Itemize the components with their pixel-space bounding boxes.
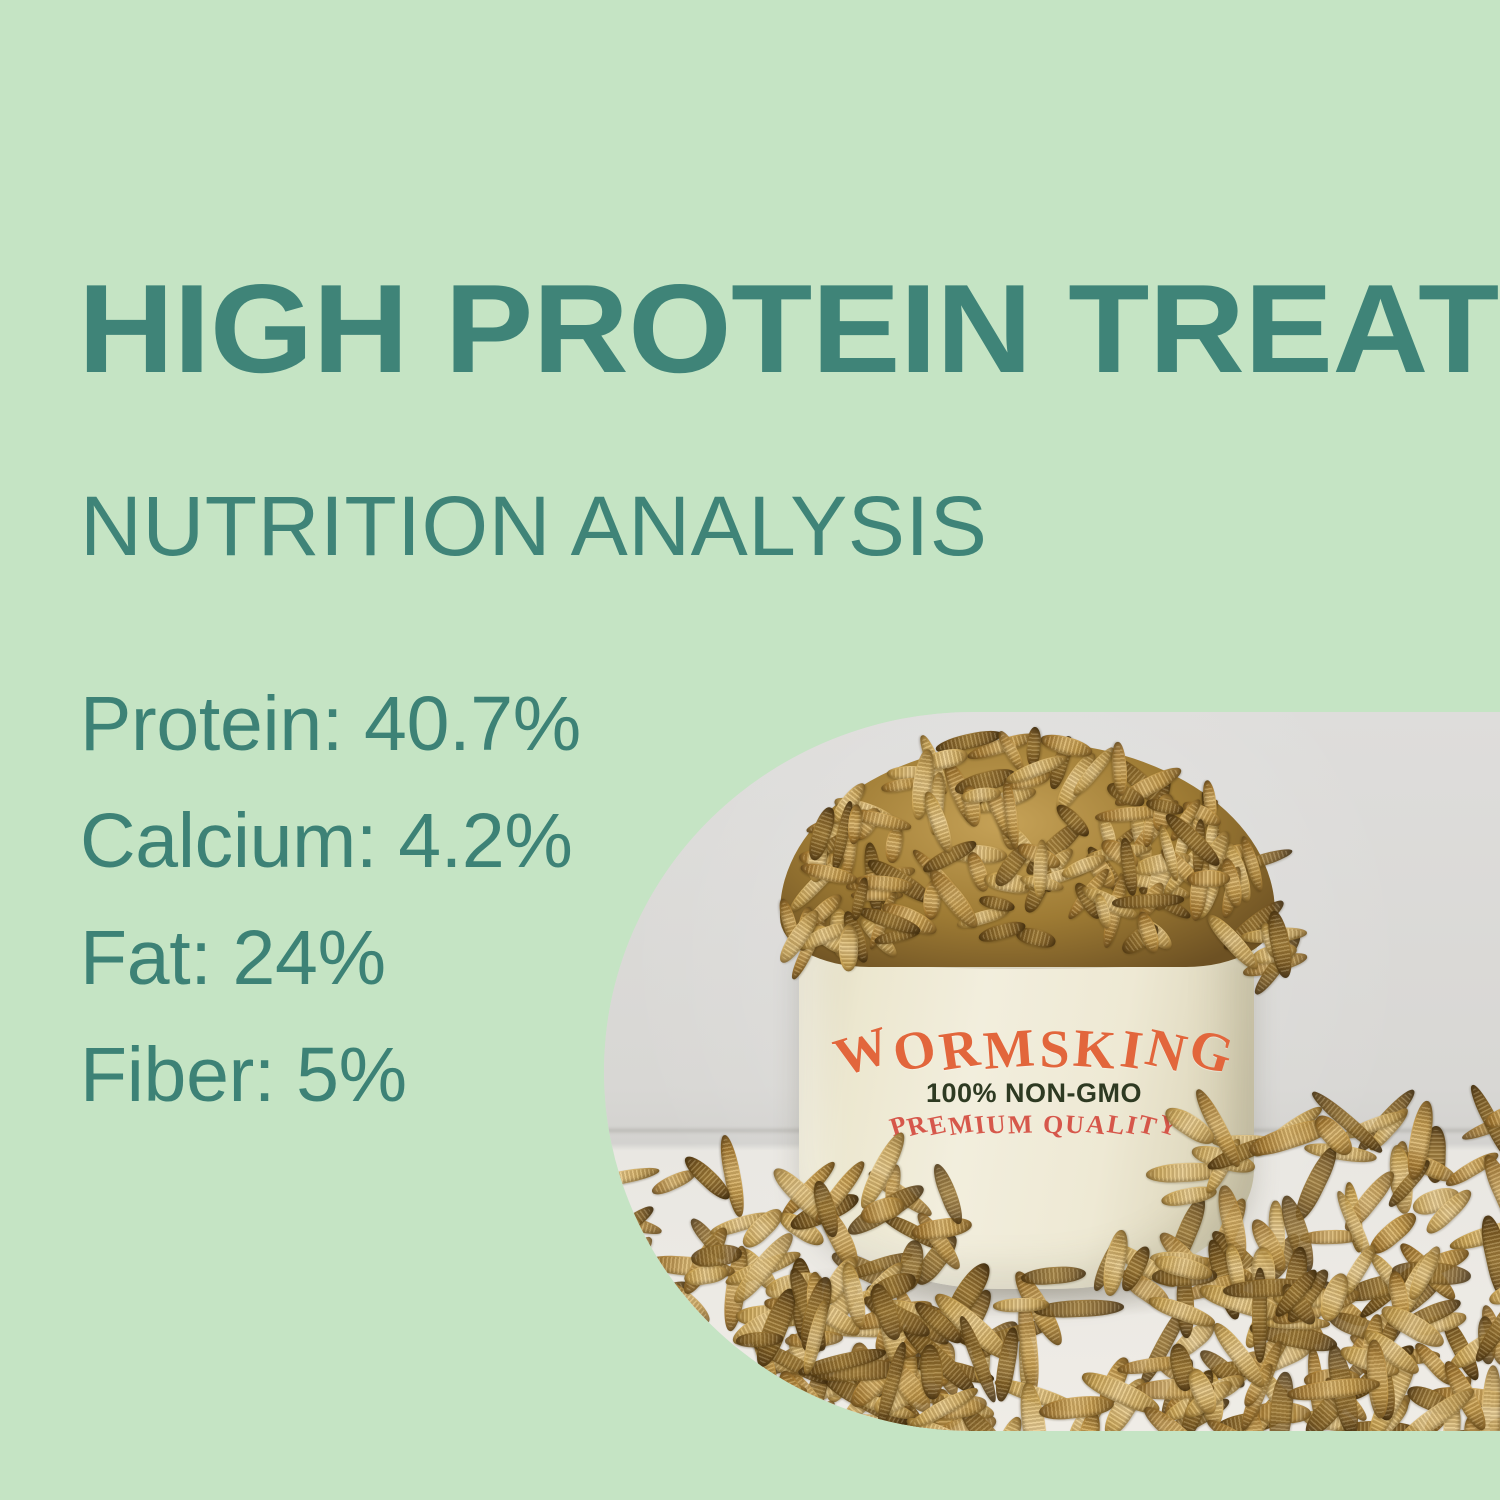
- nutrition-row-fat: Fat: 24%: [80, 900, 581, 1017]
- nutrition-fat-text: Fat: 24%: [80, 915, 386, 1001]
- page-title: HIGH PROTEIN TREATS: [78, 265, 1500, 394]
- nutrition-analysis-list: Protein: 40.7% Calcium: 4.2% Fat: 24% Fi…: [80, 666, 581, 1134]
- nutrition-fiber-text: Fiber: 5%: [80, 1032, 407, 1118]
- poster-canvas: HIGH PROTEIN TREATS NUTRITION ANALYSIS P…: [0, 0, 1500, 1500]
- page-subtitle: NUTRITION ANALYSIS: [80, 484, 987, 568]
- nutrition-row-calcium: Calcium: 4.2%: [80, 783, 581, 900]
- larvae-pile-in-bowl: [780, 748, 1275, 963]
- nutrition-calcium-text: Calcium: 4.2%: [80, 798, 573, 884]
- larvae-pile-front: [724, 1260, 1424, 1431]
- nutrition-protein-text: Protein: 40.7%: [80, 681, 581, 767]
- nutrition-row-fiber: Fiber: 5%: [80, 1017, 581, 1134]
- product-photo: WORMSKING 100% NON-GMO PREMIUM QUALITY: [604, 712, 1500, 1431]
- nutrition-row-protein: Protein: 40.7%: [80, 666, 581, 783]
